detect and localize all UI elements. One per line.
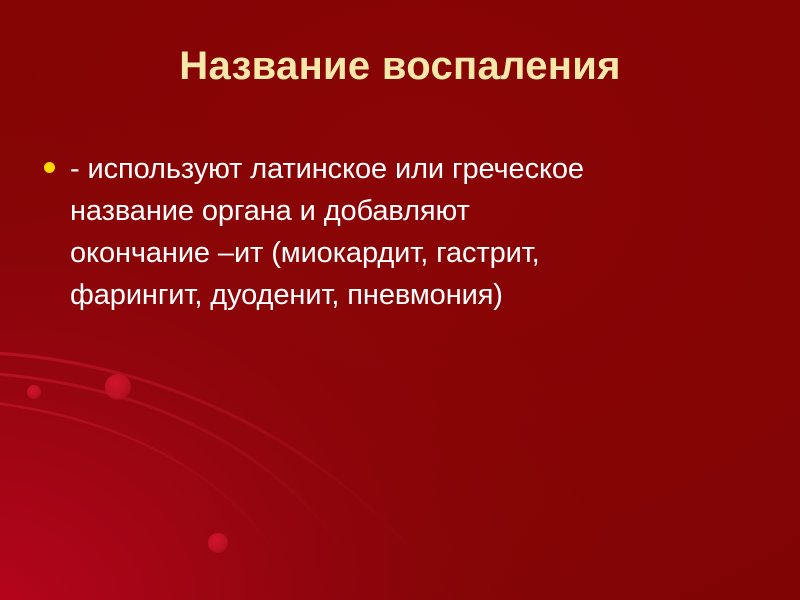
slide-body: - используют латинское или греческое наз… xyxy=(40,148,740,316)
bullet-point-icon xyxy=(44,162,55,173)
list-item: - используют латинское или греческое наз… xyxy=(40,148,740,316)
bullet-line-3: окончание –ит (миокардит, гастрит, xyxy=(70,232,740,274)
slide-title: Название воспаления xyxy=(0,44,800,89)
bullet-line-2: название органа и добавляют xyxy=(70,190,740,232)
bullet-item-text: - используют латинское или греческое наз… xyxy=(70,148,740,316)
bullet-line-1: - используют латинское или греческое xyxy=(70,148,740,190)
bullet-line-4: фарингит, дуоденит, пневмония) xyxy=(70,274,740,316)
slide-canvas: Название воспаления - используют латинск… xyxy=(0,0,800,600)
